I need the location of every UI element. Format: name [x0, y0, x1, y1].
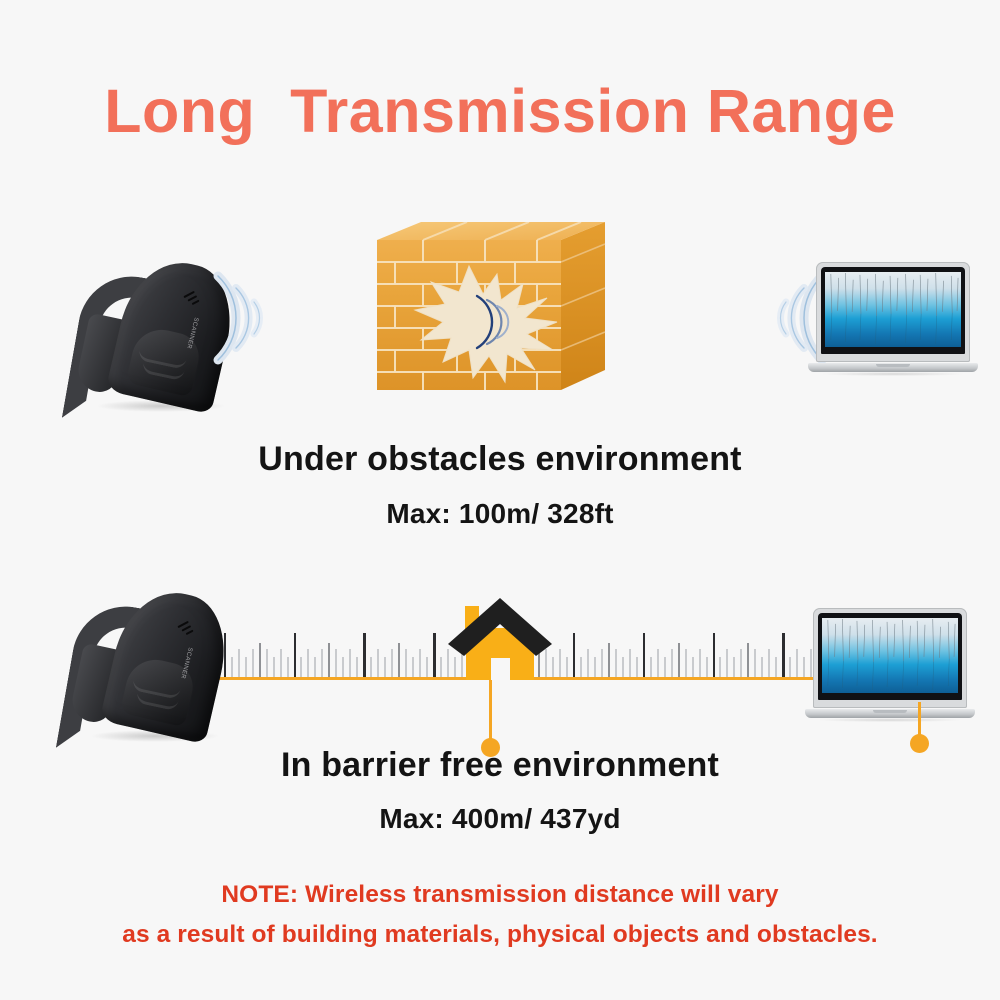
pin-stem [489, 680, 492, 742]
laptop-bezel [818, 613, 962, 700]
laptop-screen [825, 272, 961, 347]
scanner-shadow [90, 730, 220, 742]
laptop-screen [822, 618, 958, 693]
caption-obstacles: Under obstacles environment [0, 440, 1000, 479]
infographic-page: Long Transmission Range SCANNER [0, 0, 1000, 1000]
laptop-notch [876, 364, 910, 367]
caption-barrier-free: In barrier free environment [0, 746, 1000, 785]
barcode-scanner-icon-row2: SCANNER [62, 588, 247, 738]
laptop-lid [816, 262, 970, 362]
house-door [491, 658, 510, 680]
house-icon [444, 588, 556, 680]
laptop-lid [813, 608, 967, 708]
laptop-shadow [819, 718, 961, 722]
wifi-waves-icon-transmit [210, 258, 310, 383]
laptop-icon-row2 [805, 608, 975, 726]
page-title: Long Transmission Range [0, 78, 1000, 145]
note-line-1: NOTE: Wireless transmission distance wil… [0, 875, 1000, 915]
laptop-bezel [821, 267, 965, 354]
laptop-notch [873, 710, 907, 713]
scanner-shadow [96, 400, 226, 412]
laptop-shadow [822, 372, 964, 376]
note-line-2: as a result of building materials, physi… [0, 915, 1000, 955]
brick-wall-icon [365, 222, 617, 407]
range-obstacles: Max: 100m/ 328ft [0, 498, 1000, 530]
laptop-icon [808, 262, 978, 380]
house-roof [444, 598, 556, 658]
range-barrier-free: Max: 400m/ 437yd [0, 803, 1000, 835]
